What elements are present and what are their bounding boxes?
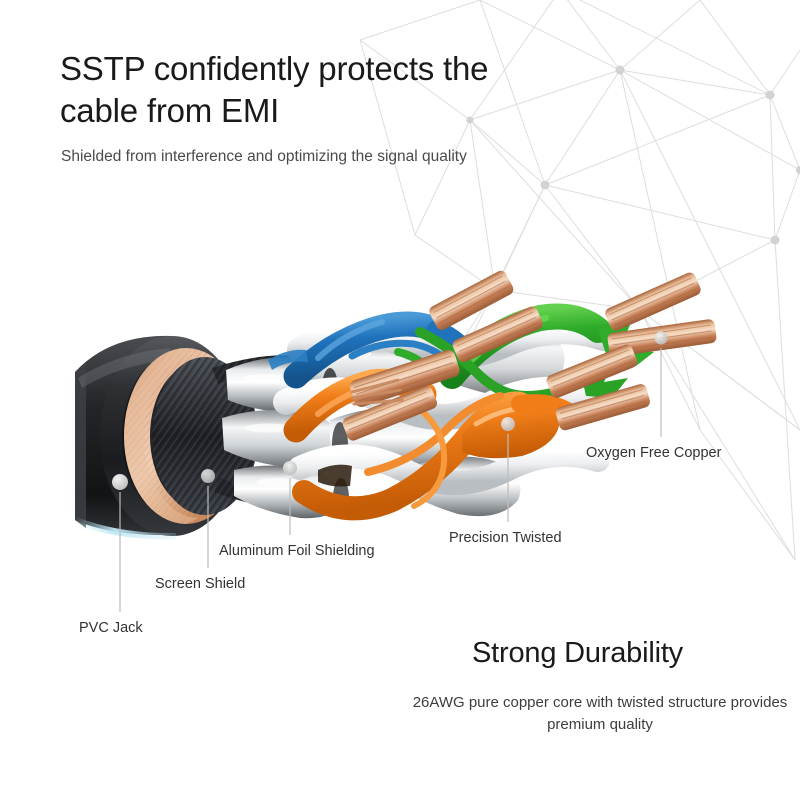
callout-label-precision-twisted: Precision Twisted [449,530,562,546]
callout-dot-aluminum-foil [283,461,297,475]
footer-title: Strong Durability [472,637,792,670]
callout-label-aluminum-foil-shielding: Aluminum Foil Shielding [219,543,375,559]
callout-dot-oxygen-free-copper [655,332,668,345]
infographic-root: SSTP confidently protects the cable from… [0,0,800,800]
callout-label-pvc-jack: PVC Jack [79,620,143,636]
callout-dot-pvc-jack [112,474,128,490]
cable-cutaway-illustration [0,0,800,800]
callout-label-screen-shield: Screen Shield [155,576,245,592]
footer-description: 26AWG pure copper core with twisted stru… [400,692,800,736]
callout-dot-precision-twisted [501,417,515,431]
callout-dot-screen-shield [201,469,215,483]
callout-label-oxygen-free-copper: Oxygen Free Copper [586,445,721,461]
